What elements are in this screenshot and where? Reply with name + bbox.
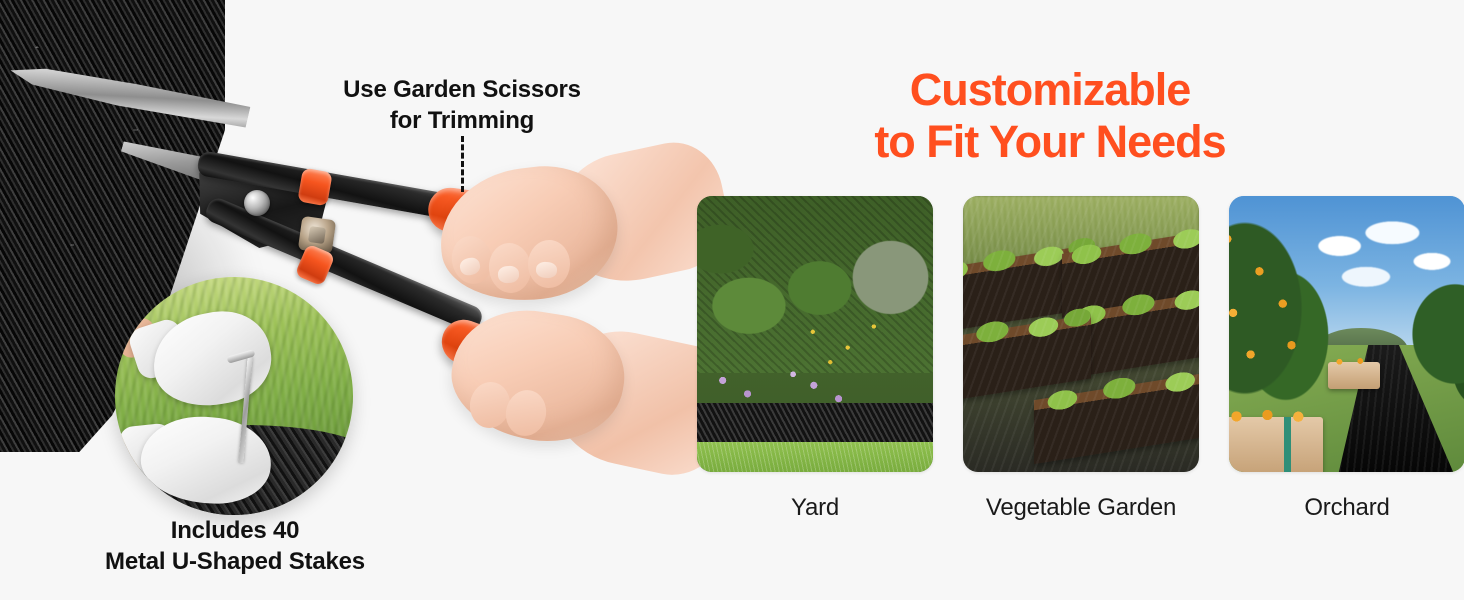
orchard-caption: Orchard [1229, 494, 1464, 522]
product-demo-panel: Use Garden Scissors for Trimming Include… [0, 0, 690, 600]
annotation-leader-line [461, 136, 464, 192]
vegetable-garden-caption: Vegetable Garden [963, 494, 1199, 522]
orchard-photo [1229, 196, 1464, 472]
shear-collar-upper [297, 168, 332, 207]
shear-pivot-bolt [244, 190, 270, 216]
stake-installation-inset-photo [115, 277, 353, 515]
veg-raised-bed [1034, 368, 1199, 464]
stakes-caption: Includes 40 Metal U-Shaped Stakes [60, 515, 410, 577]
yard-fabric-strip [697, 403, 933, 442]
scissors-annotation-line-2: for Trimming [390, 107, 534, 134]
yard-photo [697, 196, 933, 472]
stakes-caption-line-1: Includes 40 [171, 517, 300, 544]
yard-lawn [697, 442, 933, 472]
use-case-item-vegetable-garden: Vegetable Garden [963, 196, 1199, 522]
yard-caption: Yard [697, 494, 933, 522]
vegetable-garden-photo [963, 196, 1199, 472]
use-case-item-yard: Yard [697, 196, 933, 522]
scissors-annotation: Use Garden Scissors for Trimming [328, 74, 596, 136]
scissors-annotation-line-1: Use Garden Scissors [343, 76, 581, 103]
orchard-crate-distant [1328, 362, 1380, 390]
use-cases-panel: Customizable to Fit Your Needs Yard [690, 0, 1464, 600]
orchard-crate-foreground [1229, 417, 1323, 472]
stakes-caption-line-2: Metal U-Shaped Stakes [105, 548, 365, 575]
infographic-banner: Use Garden Scissors for Trimming Include… [0, 0, 1464, 600]
headline-line-1: Customizable [690, 64, 1410, 116]
use-case-photo-row: Yard Vegetable Garden [697, 196, 1464, 522]
orchard-trees-right [1394, 268, 1464, 434]
page-title: Customizable to Fit Your Needs [690, 64, 1410, 168]
use-case-item-orchard: Orchard [1229, 196, 1464, 522]
fingernail-3 [535, 261, 557, 278]
headline-line-2: to Fit Your Needs [690, 116, 1410, 168]
orchard-orange-trees-left [1229, 202, 1347, 434]
